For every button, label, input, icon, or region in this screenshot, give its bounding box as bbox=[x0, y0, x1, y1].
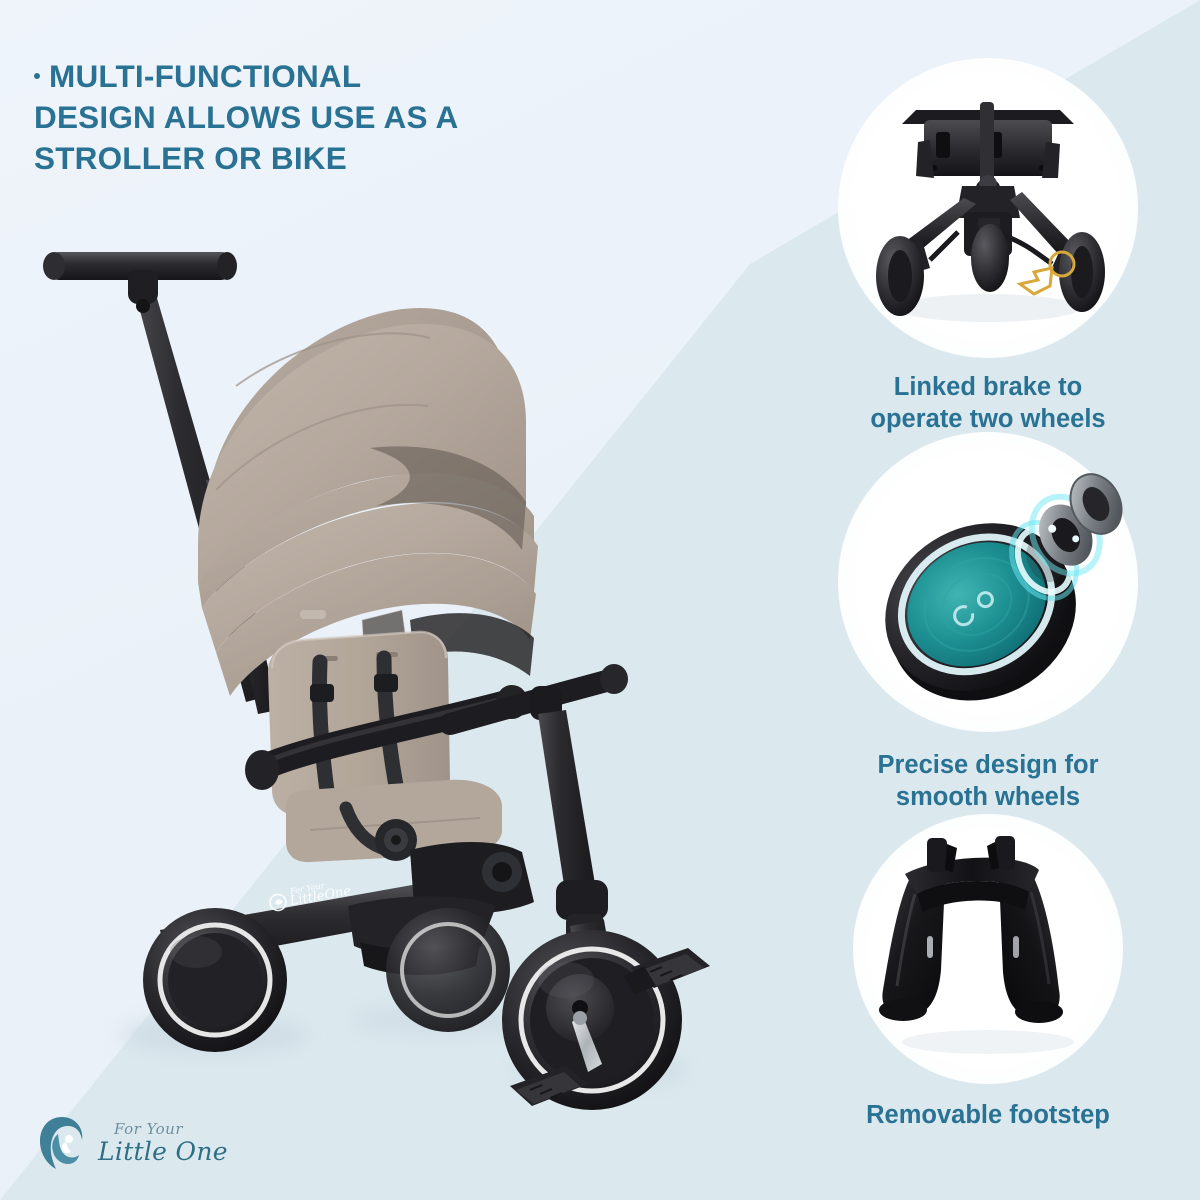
rear-wheel bbox=[143, 908, 287, 1052]
feature-caption-removable-footstep: Removable footstep bbox=[778, 1100, 1198, 1132]
wheel-bearing-photo bbox=[838, 432, 1138, 732]
brake-wheel-left bbox=[876, 236, 924, 316]
brake-wheel-right bbox=[1059, 232, 1105, 312]
headline-line-2: DESIGN ALLOWS USE AS A bbox=[34, 99, 458, 135]
mother-and-child-icon bbox=[36, 1114, 88, 1172]
feature-removable-footstep: Removable footstep bbox=[778, 800, 1198, 1132]
product-image: For Your LittleOne bbox=[10, 190, 730, 1140]
feature-smooth-wheels: Precise design for smooth wheels bbox=[778, 432, 1198, 814]
logo-text-little-one: Little One bbox=[98, 1139, 228, 1164]
inset-footstep bbox=[853, 814, 1123, 1084]
feature-caption-linked-brake: Linked brake to operate two wheels bbox=[778, 372, 1198, 436]
footstep-photo bbox=[853, 814, 1123, 1084]
inset-smooth-wheels bbox=[838, 432, 1138, 732]
brand-logo: For Your Little One bbox=[36, 1114, 228, 1172]
headline-line-3: STROLLER OR BIKE bbox=[34, 140, 347, 176]
rear-axle-brake-photo bbox=[838, 58, 1138, 358]
headline-line-1: MULTI-FUNCTIONAL bbox=[49, 58, 361, 94]
page-title: MULTI-FUNCTIONAL DESIGN ALLOWS USE AS A … bbox=[34, 56, 594, 179]
bullet-icon bbox=[34, 73, 40, 79]
mid-wheel bbox=[386, 908, 510, 1032]
feature-linked-brake: Linked brake to operate two wheels bbox=[778, 58, 1198, 436]
inset-linked-brake bbox=[838, 58, 1138, 358]
infographic-canvas: MULTI-FUNCTIONAL DESIGN ALLOWS USE AS A … bbox=[0, 0, 1200, 1200]
logo-text-for-your: For Your bbox=[114, 1122, 228, 1137]
